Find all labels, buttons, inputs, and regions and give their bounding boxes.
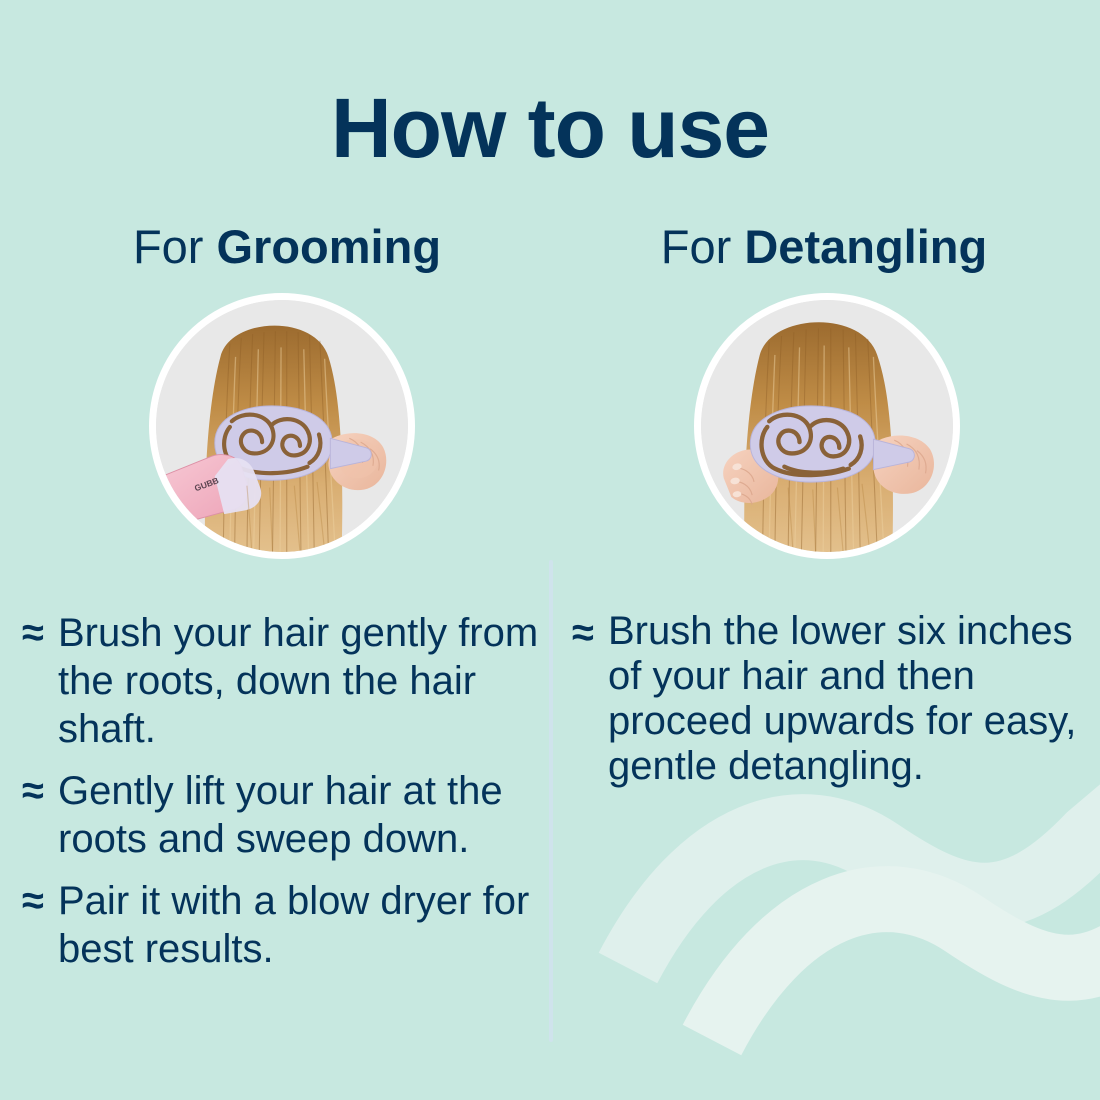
list-item: ≈ Pair it with a blow dryer for best res… — [22, 877, 542, 973]
detangling-illustration — [701, 300, 953, 552]
list-item: ≈ Brush your hair gently from the roots,… — [22, 609, 542, 753]
photo-wrap-detangling — [572, 293, 1082, 559]
grooming-illustration: GUBB — [156, 300, 408, 552]
bullet-text: Pair it with a blow dryer for best resul… — [58, 877, 542, 973]
wave-bullet-icon: ≈ — [572, 611, 608, 655]
heading-emphasis: Grooming — [217, 220, 442, 273]
wave-bullet-icon: ≈ — [22, 769, 58, 813]
list-item: ≈ Gently lift your hair at the roots and… — [22, 767, 542, 863]
bullet-text: Brush your hair gently from the roots, d… — [58, 609, 542, 753]
wave-bullet-icon: ≈ — [22, 611, 58, 655]
photo-wrap-grooming: GUBB — [22, 293, 542, 559]
column-grooming: For Grooming — [22, 222, 542, 987]
column-grooming-heading: For Grooming — [22, 222, 542, 271]
photo-grooming: GUBB — [149, 293, 415, 559]
bullet-list-detangling: ≈ Brush the lower six inches of your hai… — [572, 609, 1082, 789]
bullet-list-grooming: ≈ Brush your hair gently from the roots,… — [22, 609, 542, 973]
bullet-text: Brush the lower six inches of your hair … — [608, 609, 1082, 789]
heading-prefix: For — [133, 220, 217, 273]
heading-emphasis: Detangling — [744, 220, 987, 273]
column-detangling: For Detangling — [572, 222, 1082, 799]
photo-detangling — [694, 293, 960, 559]
column-detangling-heading: For Detangling — [572, 222, 1082, 271]
heading-prefix: For — [661, 220, 745, 273]
wave-bullet-icon: ≈ — [22, 879, 58, 923]
column-divider — [549, 560, 553, 1042]
how-to-use-columns: For Grooming — [0, 0, 1100, 1100]
bullet-text: Gently lift your hair at the roots and s… — [58, 767, 542, 863]
list-item: ≈ Brush the lower six inches of your hai… — [572, 609, 1082, 789]
